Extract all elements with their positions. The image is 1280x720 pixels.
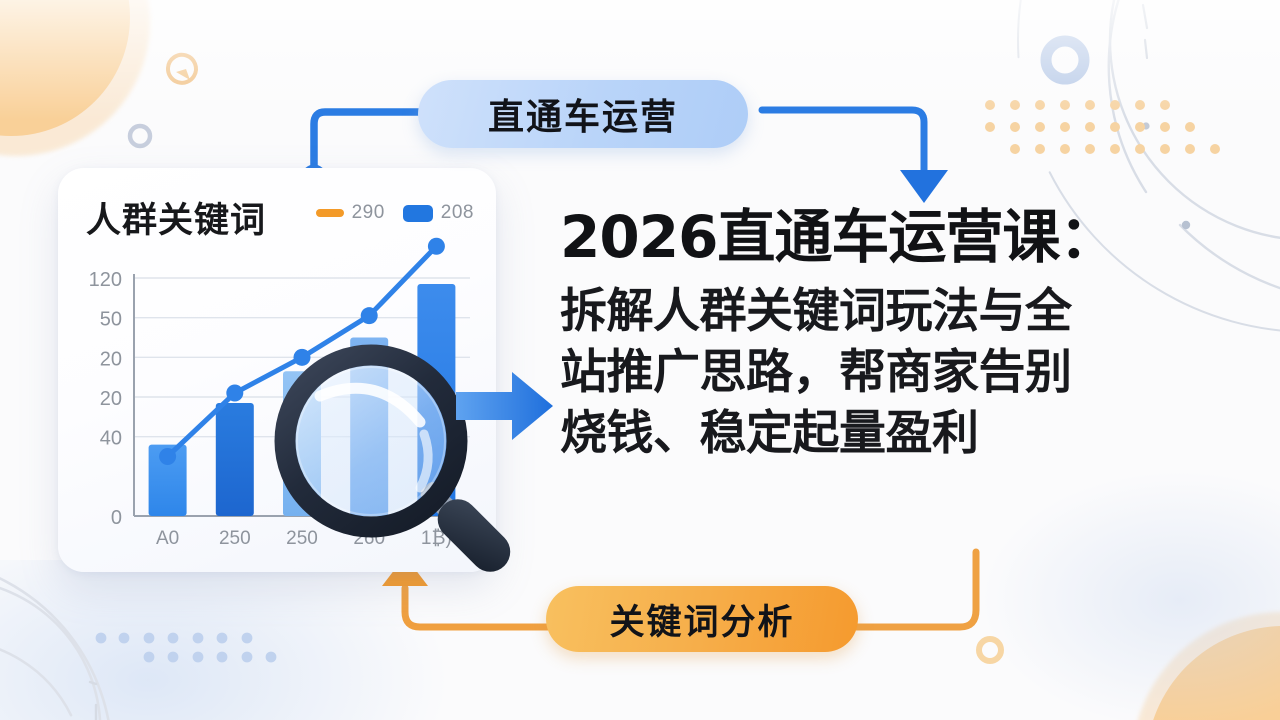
poster-copy: 2026直通车运营课： 拆解人群关键词玩法与全 站推广思路，帮商家告别 烧钱、稳…: [560, 206, 1250, 464]
chart-y-axis-labels: 120502020400: [89, 269, 122, 529]
svg-text:0: 0: [111, 507, 122, 529]
badge-zhitongche-operation[interactable]: 直通车运营: [418, 80, 748, 148]
svg-text:120: 120: [89, 269, 122, 291]
poster-body-line: 站推广思路，帮商家告别: [560, 342, 1250, 403]
arrow-right-icon: [456, 370, 554, 442]
svg-text:50: 50: [100, 309, 122, 331]
svg-text:20: 20: [100, 388, 122, 410]
svg-text:250: 250: [219, 528, 251, 549]
poster-body-line: 烧钱、稳定起量盈利: [560, 403, 1250, 464]
poster-body-line: 拆解人群关键词玩法与全: [560, 281, 1250, 342]
svg-text:40: 40: [100, 428, 122, 450]
poster-body: 拆解人群关键词玩法与全 站推广思路，帮商家告别 烧钱、稳定起量盈利: [560, 281, 1250, 464]
badge-keyword-analysis[interactable]: 关键词分析: [546, 586, 858, 652]
svg-text:20: 20: [100, 348, 122, 370]
svg-text:A0: A0: [156, 528, 179, 549]
page-title: 2026直通车运营课：: [560, 206, 1250, 269]
